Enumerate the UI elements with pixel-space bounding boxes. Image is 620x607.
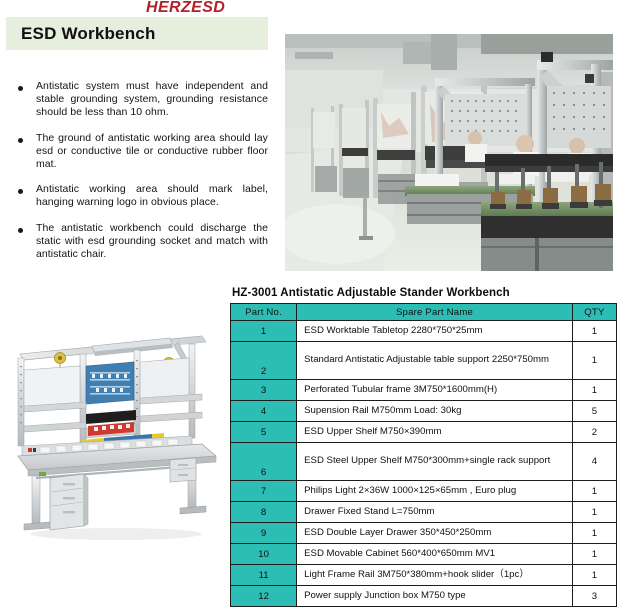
table-heading: HZ-3001 Antistatic Adjustable Stander Wo… [232, 287, 510, 299]
cell-qty: 5 [572, 401, 616, 422]
cell-part-no: 11 [231, 565, 297, 586]
list-item: The ground of antistatic working area sh… [0, 132, 282, 172]
cell-part-no: 9 [231, 523, 297, 544]
cell-part-no: 7 [231, 481, 297, 502]
cell-qty: 4 [572, 443, 616, 481]
spare-parts-table: Part No. Spare Part Name QTY 1 ESD Workt… [230, 303, 617, 607]
cell-part-name: Perforated Tubular frame 3M750*1600mm(H) [297, 380, 573, 401]
list-item: Antistatic system must have independent … [0, 80, 282, 120]
cell-qty: 1 [572, 565, 616, 586]
cell-qty: 3 [572, 586, 616, 607]
cell-part-no: 8 [231, 502, 297, 523]
cell-part-no: 12 [231, 586, 297, 607]
cell-part-name: Supension Rail M750mm Load: 30kg [297, 401, 573, 422]
product-illustration [6, 300, 224, 550]
cell-part-name: ESD Double Layer Drawer 350*450*250mm [297, 523, 573, 544]
table-row: 9 ESD Double Layer Drawer 350*450*250mm … [231, 523, 617, 544]
table-row: 1 ESD Worktable Tabletop 2280*750*25mm 1 [231, 321, 617, 342]
table-row: 10 ESD Movable Cabinet 560*400*650mm MV1… [231, 544, 617, 565]
bullet-dot-icon [18, 86, 23, 91]
table-row: 12 Power supply Junction box M750 type 3 [231, 586, 617, 607]
page-title-band: ESD Workbench [6, 17, 268, 50]
table-row: 4 Supension Rail M750mm Load: 30kg 5 [231, 401, 617, 422]
cell-qty: 1 [572, 380, 616, 401]
column-header-qty: QTY [572, 304, 616, 321]
cell-part-no: 10 [231, 544, 297, 565]
list-item-text: The ground of antistatic working area sh… [36, 132, 282, 172]
table-row: 8 Drawer Fixed Stand L=750mm 1 [231, 502, 617, 523]
bullet-dot-icon [18, 138, 23, 143]
table-row: 3 Perforated Tubular frame 3M750*1600mm(… [231, 380, 617, 401]
list-item: The antistatic workbench could discharge… [0, 222, 282, 262]
table-row: 2 Standard Antistatic Adjustable table s… [231, 342, 617, 380]
feature-bullet-list: Antistatic system must have independent … [0, 80, 282, 273]
cell-qty: 1 [572, 342, 616, 380]
cell-part-no: 3 [231, 380, 297, 401]
brand-logo: HERZESD [146, 0, 225, 17]
cell-part-no: 2 [231, 342, 297, 380]
column-header-spare-part-name: Spare Part Name [297, 304, 573, 321]
cell-part-no: 1 [231, 321, 297, 342]
production-line-photo [285, 34, 613, 271]
cell-part-name: Light Frame Rail 3M750*380mm+hook slider… [297, 565, 573, 586]
cell-part-name: ESD Movable Cabinet 560*400*650mm MV1 [297, 544, 573, 565]
cell-qty: 2 [572, 422, 616, 443]
list-item-text: Antistatic working area should mark labe… [36, 183, 282, 209]
list-item-text: Antistatic system must have independent … [36, 80, 282, 120]
cell-part-name: Standard Antistatic Adjustable table sup… [297, 342, 573, 380]
cell-part-no: 6 [231, 443, 297, 481]
cell-part-no: 4 [231, 401, 297, 422]
cell-part-name: ESD Steel Upper Shelf M750*300mm+single … [297, 443, 573, 481]
cell-part-name: ESD Upper Shelf M750×390mm [297, 422, 573, 443]
bullet-dot-icon [18, 228, 23, 233]
cell-part-name: ESD Worktable Tabletop 2280*750*25mm [297, 321, 573, 342]
cell-qty: 1 [572, 502, 616, 523]
column-header-part-no: Part No. [231, 304, 297, 321]
cell-part-no: 5 [231, 422, 297, 443]
list-item-text: The antistatic workbench could discharge… [36, 222, 282, 262]
cell-part-name: Drawer Fixed Stand L=750mm [297, 502, 573, 523]
table-row: 7 Philips Light 2×36W 1000×125×65mm , Eu… [231, 481, 617, 502]
cell-qty: 1 [572, 481, 616, 502]
table-header-row: Part No. Spare Part Name QTY [231, 304, 617, 321]
bullet-dot-icon [18, 189, 23, 194]
list-item: Antistatic working area should mark labe… [0, 183, 282, 209]
page-title: ESD Workbench [21, 24, 156, 44]
cell-part-name: Power supply Junction box M750 type [297, 586, 573, 607]
cell-qty: 1 [572, 321, 616, 342]
cell-part-name: Philips Light 2×36W 1000×125×65mm , Euro… [297, 481, 573, 502]
table-row: 11 Light Frame Rail 3M750*380mm+hook sli… [231, 565, 617, 586]
table-row: 6 ESD Steel Upper Shelf M750*300mm+singl… [231, 443, 617, 481]
table-row: 5 ESD Upper Shelf M750×390mm 2 [231, 422, 617, 443]
cell-qty: 1 [572, 544, 616, 565]
cell-qty: 1 [572, 523, 616, 544]
